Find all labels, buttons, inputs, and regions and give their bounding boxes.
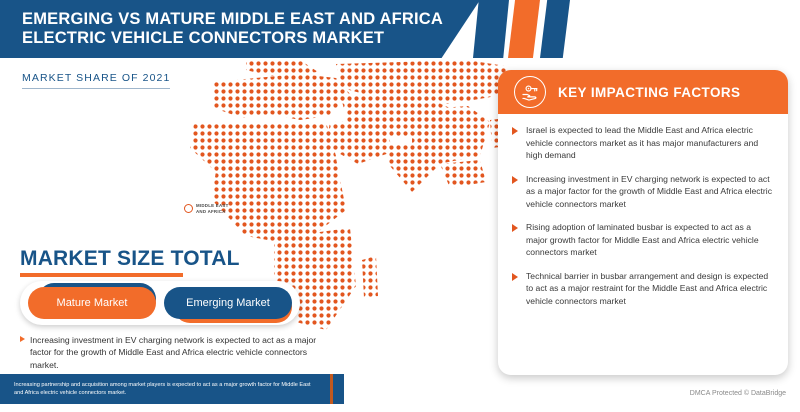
list-item: Technical barrier in busbar arrangement … (512, 270, 774, 308)
market-size-note: Increasing investment in EV charging net… (20, 334, 328, 371)
marker-label: MIDDLE EAST AND AFRICA (196, 203, 229, 215)
key-impacting-factors-title: KEY IMPACTING FACTORS (558, 85, 740, 100)
marker-ring-icon (184, 204, 193, 213)
pill-mature-label: Mature Market (28, 287, 156, 319)
list-item: Increasing investment in EV charging net… (512, 173, 774, 211)
list-item: Rising adoption of laminated busbar is e… (512, 221, 774, 259)
market-size-pill-group: Mature Market Emerging Market (20, 281, 300, 325)
map-dots (150, 60, 510, 375)
infographic-canvas: EMERGING VS MATURE MIDDLE EAST AND AFRIC… (0, 0, 800, 412)
pill-mature-market[interactable]: Mature Market (28, 287, 156, 319)
list-item: Israel is expected to lead the Middle Ea… (512, 124, 774, 162)
header-stripe-navy-1 (473, 0, 509, 58)
page-title: EMERGING VS MATURE MIDDLE EAST AND AFRIC… (0, 10, 480, 49)
header: EMERGING VS MATURE MIDDLE EAST AND AFRIC… (0, 0, 800, 62)
list-item-text: Technical barrier in busbar arrangement … (526, 270, 774, 308)
footer-accent-stripe (330, 374, 333, 404)
market-size-title: MARKET SIZE TOTAL (20, 247, 240, 271)
pill-emerging-market[interactable]: Emerging Market (164, 287, 292, 319)
list-item-text: Israel is expected to lead the Middle Ea… (526, 124, 774, 162)
key-impacting-factors-list: Israel is expected to lead the Middle Ea… (498, 114, 788, 308)
map-region-marker: MIDDLE EAST AND AFRICA (184, 203, 229, 215)
footer-text: Increasing partnership and acquisition a… (0, 381, 344, 398)
header-stripe-navy-2 (540, 0, 570, 58)
dotted-world-map (150, 60, 510, 375)
key-impacting-factors-header: KEY IMPACTING FACTORS (498, 70, 788, 114)
arrow-bullet-icon (512, 224, 518, 232)
pill-emerging-label: Emerging Market (164, 287, 292, 319)
marker-label-line2: AND AFRICA (196, 209, 229, 215)
list-item-text: Increasing investment in EV charging net… (526, 173, 774, 211)
market-share-label: MARKET SHARE OF 2021 (22, 72, 170, 89)
arrow-bullet-icon (512, 273, 518, 281)
dmca-credit: DMCA Protected © DataBridge (690, 390, 786, 397)
market-size-note-text: Increasing investment in EV charging net… (30, 334, 328, 371)
header-stripe-orange (508, 0, 540, 58)
key-in-hand-icon (514, 76, 546, 108)
header-banner: EMERGING VS MATURE MIDDLE EAST AND AFRIC… (0, 0, 480, 58)
key-impacting-factors-card: KEY IMPACTING FACTORS Israel is expected… (498, 70, 788, 375)
arrow-bullet-icon (512, 176, 518, 184)
arrow-bullet-icon (512, 127, 518, 135)
footer-banner: Increasing partnership and acquisition a… (0, 374, 344, 404)
arrow-bullet-icon (20, 336, 25, 342)
market-size-underline (20, 273, 183, 277)
list-item-text: Rising adoption of laminated busbar is e… (526, 221, 774, 259)
